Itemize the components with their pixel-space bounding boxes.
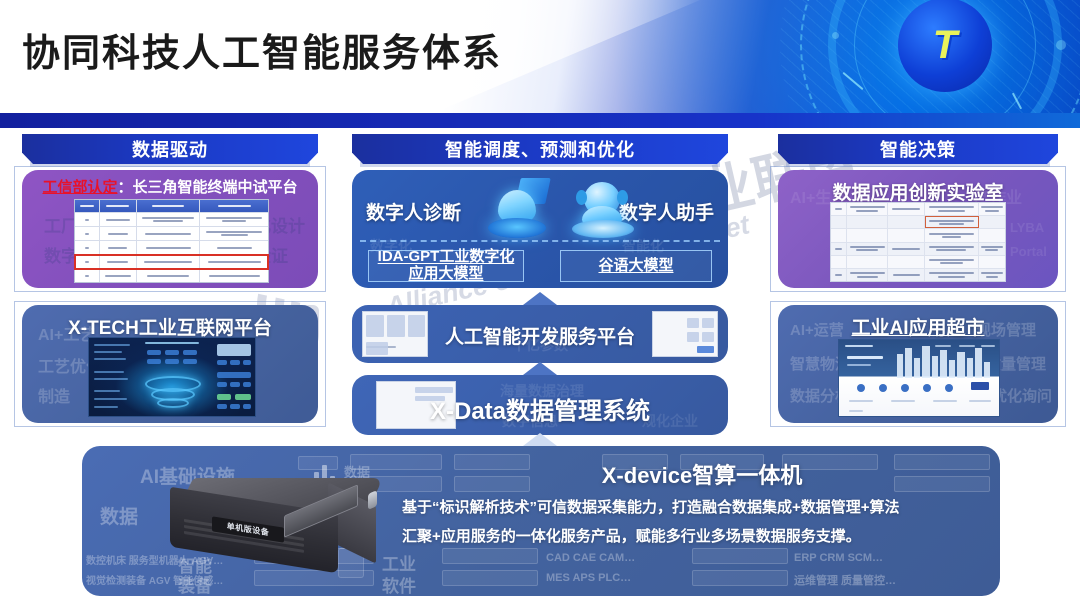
- card-digital-human[interactable]: 数字化 智能化 数字人诊断 数字人助手 IDA-GPT工业数字化应用大模型 谷语…: [352, 170, 728, 288]
- gxb-sep: ：: [117, 179, 132, 196]
- ghost-vision: 视觉检测装备 AGV 智能传感…: [86, 572, 223, 587]
- card-xdata-title: X-Data数据管理系统: [352, 391, 728, 426]
- ghost-mes: MES APS PLC…: [546, 572, 631, 584]
- table-row[interactable]: [75, 241, 268, 255]
- lab-table[interactable]: [830, 202, 1006, 282]
- card-x-data-system[interactable]: 海量数据治理 数字信息 规化企业 X-Data数据管理系统: [352, 375, 728, 435]
- label-digital-human-diagnosis: 数字人诊断: [366, 198, 461, 225]
- ghost-ops: 运维管理 质量管控…: [794, 572, 896, 588]
- table-row[interactable]: [831, 269, 1005, 281]
- zhongshi-table[interactable]: [74, 199, 269, 283]
- card-data-innovation-lab[interactable]: AI+生产 产作业 LYBA Portal 数据应用创新实验室: [778, 170, 1058, 288]
- xdevice-desc-line2: 汇聚+应用服务的一体化服务产品，赋能多行业多场景数据服务支撑。: [402, 528, 861, 545]
- table-row[interactable]: [831, 203, 1005, 216]
- banner-intelligent-decision: 智能决策: [778, 134, 1058, 164]
- arrow-up-to-digital-human: [523, 292, 557, 305]
- table-row-highlighted[interactable]: [75, 255, 268, 269]
- xdevice-desc-line1: 基于“标识解析技术”可信数据采集能力，打造融合数据集成+数据管理+算法: [402, 499, 900, 516]
- logo-hub: T: [898, 0, 992, 92]
- logo-letter: T: [898, 0, 992, 92]
- ghost-xtech-3: 制造: [38, 383, 70, 407]
- card-ai-dev-platform[interactable]: 千亿参数 人工智能开发服务平台: [352, 305, 728, 363]
- box-guyu-model[interactable]: 谷语大模型: [560, 250, 712, 282]
- card-market-title: 工业AI应用超市: [778, 313, 1058, 340]
- page-title: 协同科技人工智能服务体系: [22, 22, 502, 77]
- ghost-lab-3: LYBA: [1010, 220, 1044, 235]
- ghost-lab-4: Portal: [1010, 244, 1047, 259]
- table-row[interactable]: [831, 243, 1005, 256]
- ghost-data2: 数据: [100, 502, 138, 529]
- banner-intelligent-scheduling: 智能调度、预测和优化: [352, 134, 728, 164]
- header-blue-band: [0, 113, 1080, 128]
- market-screenshot: [838, 339, 1000, 417]
- ghost-software: 软件: [382, 572, 416, 596]
- ghost-cad: CAD CAE CAM…: [546, 552, 635, 564]
- table-row[interactable]: [75, 269, 268, 282]
- banner-data-driven: 数据驱动: [22, 134, 318, 164]
- card-xtech-platform[interactable]: AI+工艺 工艺优化 制造 X-TECH工业互联网平台: [22, 305, 318, 423]
- table-row[interactable]: [831, 229, 1005, 242]
- card-xtech-title: X-TECH工业互联网平台: [22, 313, 318, 340]
- ida-gpt-line1: IDA-GPT工业数字化: [378, 248, 515, 265]
- card-zhongshi-platform[interactable]: 工厂 数字 化设计 验证 工信部认定：长三角智能终端中试平台: [22, 170, 318, 288]
- arrow-up-to-xdata: [523, 433, 557, 446]
- xtech-dashboard-screenshot: [88, 337, 256, 417]
- table-header-row: [75, 200, 268, 213]
- arrow-up-to-ai-dev: [523, 362, 557, 375]
- ghost-erp: ERP CRM SCM…: [794, 552, 883, 564]
- ghost-market-6: 优化询问: [992, 385, 1052, 406]
- avatar-diagnosis-icon: [480, 176, 558, 242]
- card-ai-app-market[interactable]: AI+运营 现场管理 智慧物流 质量管理 数据分析 优化询问 工业AI应用超市: [778, 305, 1058, 423]
- gxb-main-label: 长三角智能终端中试平台: [133, 179, 298, 196]
- slide-root: T 协同科技人工智能服务体系 工业互联网产业联盟 Alliance of Ind…: [0, 0, 1080, 608]
- thumbnail-aidev-right: [652, 311, 718, 357]
- gxb-certified-label: 工信部认定: [42, 179, 117, 196]
- card-xdevice-description: 基于“标识解析技术”可信数据采集能力，打造融合数据集成+数据管理+算法 汇聚+应…: [402, 494, 982, 551]
- table-row-highlighted[interactable]: [831, 216, 1005, 229]
- card-x-device[interactable]: AI基础设施 数据 数据 智能 装备 工业 软件 CAD CAE CAM… ME…: [82, 446, 1000, 596]
- tech-circle-graphic: T: [780, 0, 1080, 113]
- slide-header: T 协同科技人工智能服务体系: [0, 0, 1080, 113]
- table-row[interactable]: [75, 227, 268, 241]
- table-row[interactable]: [75, 213, 268, 227]
- ghost-text-factory: 工厂: [44, 212, 78, 237]
- avatar-assistant-icon: [568, 178, 640, 242]
- card-xdevice-title: X-device智算一体机: [452, 458, 952, 490]
- box-ida-gpt-model[interactable]: IDA-GPT工业数字化应用大模型: [368, 250, 524, 282]
- card-lab-title: 数据应用创新实验室: [778, 178, 1058, 205]
- ghost-text-digital: 数字: [44, 242, 78, 267]
- divider-dashed: [360, 240, 720, 242]
- card-gxb-title: 工信部认定：长三角智能终端中试平台: [22, 176, 318, 197]
- server-device-image: 单机版设备: [168, 478, 383, 570]
- table-row[interactable]: [831, 256, 1005, 269]
- ida-gpt-line2: 应用大模型: [408, 265, 483, 282]
